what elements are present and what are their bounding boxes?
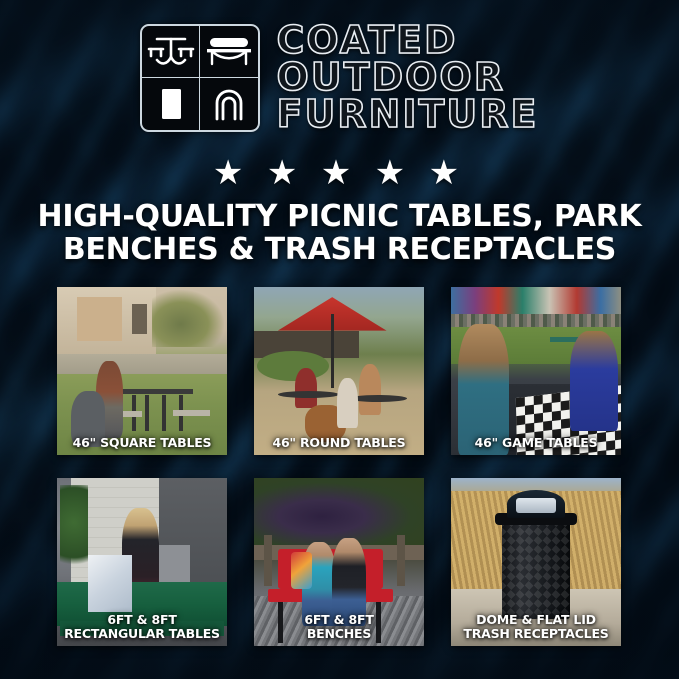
product-tile-trash-receptacles[interactable]: DOME & FLAT LID TRASH RECEPTACLES	[451, 478, 621, 646]
caption-line-2: TRASH RECEPTACLES	[453, 627, 619, 641]
caption-line-2: RECTANGULAR TABLES	[59, 627, 225, 641]
brand-logo[interactable]: COATED OUTDOOR FURNITURE	[0, 24, 679, 134]
product-caption: 46" SQUARE TABLES	[59, 436, 225, 450]
park-bench-icon	[200, 26, 258, 78]
trash-receptacle-icon	[142, 78, 200, 130]
caption-line-1: 6FT & 8FT	[59, 613, 225, 627]
brand-line-outdoor: OUTDOOR	[276, 59, 505, 96]
caption-line-1: 6FT & 8FT	[256, 613, 422, 627]
caption-line-1: DOME & FLAT LID	[453, 613, 619, 627]
product-tile-square-tables[interactable]: 46" SQUARE TABLES	[57, 287, 227, 455]
caption-line-2: BENCHES	[256, 627, 422, 641]
product-tile-game-tables[interactable]: 46" GAME TABLES	[451, 287, 621, 455]
bike-rack-icon	[200, 78, 258, 130]
product-photo-game-tables	[451, 287, 621, 455]
headline-line-1: HIGH-QUALITY PICNIC TABLES, PARK	[28, 200, 651, 233]
product-tile-grid: 46" SQUARE TABLES 46" ROUND TABLES	[57, 287, 622, 646]
page-headline: HIGH-QUALITY PICNIC TABLES, PARK BENCHES…	[28, 200, 651, 266]
headline-line-2: BENCHES & TRASH RECEPTACLES	[28, 233, 651, 266]
product-banner: COATED OUTDOOR FURNITURE ★ ★ ★ ★ ★ HIGH-…	[0, 0, 679, 679]
caption-line-1: 46" ROUND TABLES	[256, 436, 422, 450]
caption-line-1: 46" GAME TABLES	[453, 436, 619, 450]
product-tile-benches[interactable]: 6FT & 8FT BENCHES	[254, 478, 424, 646]
product-tile-round-tables[interactable]: 46" ROUND TABLES	[254, 287, 424, 455]
product-caption: 6FT & 8FT RECTANGULAR TABLES	[59, 613, 225, 640]
picnic-table-icon	[142, 26, 200, 78]
brand-line-coated: COATED	[276, 22, 457, 59]
brand-line-furniture: FURNITURE	[276, 96, 538, 133]
product-caption: 46" ROUND TABLES	[256, 436, 422, 450]
product-caption: 6FT & 8FT BENCHES	[256, 613, 422, 640]
brand-wordmark: COATED OUTDOOR FURNITURE	[276, 22, 538, 134]
product-photo-round-tables	[254, 287, 424, 455]
product-caption: DOME & FLAT LID TRASH RECEPTACLES	[453, 613, 619, 640]
star-rating: ★ ★ ★ ★ ★	[0, 156, 679, 190]
product-tile-rectangular-tables[interactable]: 6FT & 8FT RECTANGULAR TABLES	[57, 478, 227, 646]
product-caption: 46" GAME TABLES	[453, 436, 619, 450]
logo-icon-grid	[140, 24, 260, 132]
caption-line-1: 46" SQUARE TABLES	[59, 436, 225, 450]
product-photo-square-tables	[57, 287, 227, 455]
